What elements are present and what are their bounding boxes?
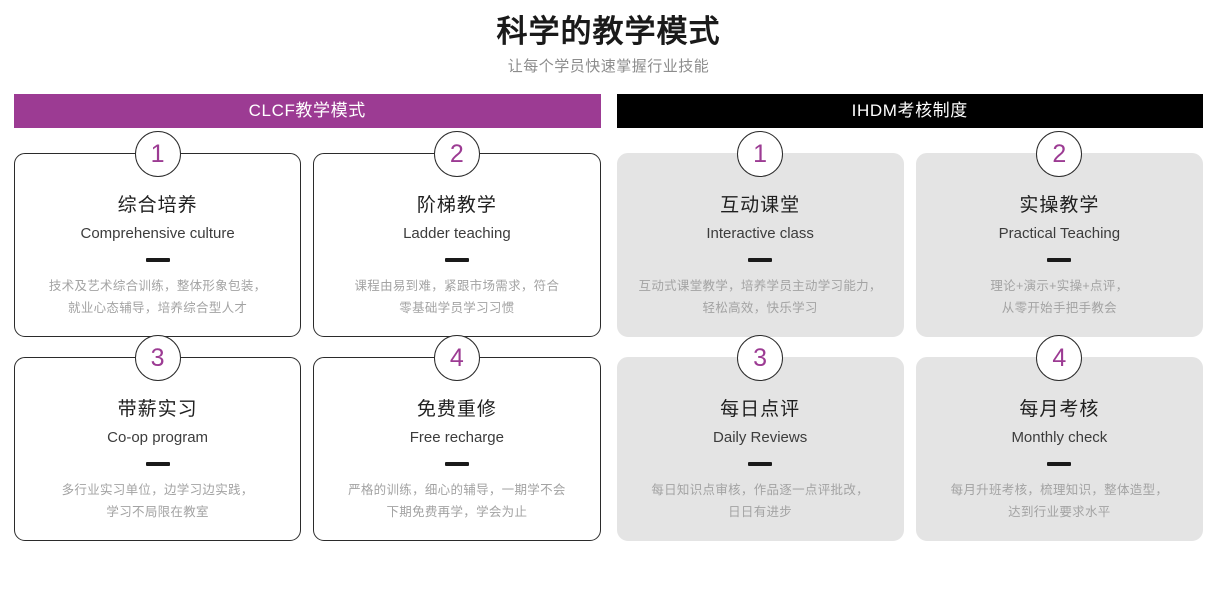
card-description-line: 多行业实习单位，边学习边实践， bbox=[31, 479, 284, 501]
card-description-line: 技术及艺术综合训练，整体形象包装， bbox=[31, 275, 284, 297]
card-divider-rule bbox=[445, 258, 469, 262]
page-title: 科学的教学模式 bbox=[0, 10, 1217, 54]
card-title: 互动课堂 bbox=[634, 192, 887, 220]
card-ihdm-1[interactable]: 1 互动课堂 Interactive class 互动式课堂教学，培养学员主动学… bbox=[617, 153, 904, 337]
card-subtitle: Free recharge bbox=[330, 425, 583, 450]
card-ihdm-2[interactable]: 2 实操教学 Practical Teaching 理论+演示+实操+点评， 从… bbox=[916, 153, 1203, 337]
column-header-ihdm: IHDM考核制度 bbox=[617, 94, 1204, 128]
card-divider-rule bbox=[748, 462, 772, 466]
card-divider-rule bbox=[146, 462, 170, 466]
card-divider-rule bbox=[748, 258, 772, 262]
card-description-line: 互动式课堂教学，培养学员主动学习能力， bbox=[634, 275, 887, 297]
card-title: 免费重修 bbox=[330, 396, 583, 424]
card-number-badge: 3 bbox=[135, 335, 181, 381]
card-description-line: 学习不局限在教室 bbox=[31, 501, 284, 523]
card-number-badge: 4 bbox=[434, 335, 480, 381]
card-description-line: 零基础学员学习习惯 bbox=[330, 297, 583, 319]
card-description-line: 日日有进步 bbox=[634, 501, 887, 523]
card-description: 每月升班考核，梳理知识，整体造型， 达到行业要求水平 bbox=[933, 479, 1186, 523]
column-header-clcf: CLCF教学模式 bbox=[14, 94, 601, 128]
page-subtitle: 让每个学员快速掌握行业技能 bbox=[0, 54, 1217, 80]
card-divider-rule bbox=[146, 258, 170, 262]
card-clcf-1[interactable]: 1 综合培养 Comprehensive culture 技术及艺术综合训练，整… bbox=[14, 153, 301, 337]
card-number-badge: 1 bbox=[135, 131, 181, 177]
card-grid-clcf: 1 综合培养 Comprehensive culture 技术及艺术综合训练，整… bbox=[14, 153, 601, 541]
card-title: 实操教学 bbox=[933, 192, 1186, 220]
card-description-line: 就业心态辅导，培养综合型人才 bbox=[31, 297, 284, 319]
card-subtitle: Comprehensive culture bbox=[31, 221, 284, 246]
card-description-line: 每日知识点审核，作品逐一点评批改， bbox=[634, 479, 887, 501]
card-description-line: 轻松高效，快乐学习 bbox=[634, 297, 887, 319]
card-divider-rule bbox=[1047, 462, 1071, 466]
card-description-line: 下期免费再学，学会为止 bbox=[330, 501, 583, 523]
card-description-line: 课程由易到难，紧跟市场需求，符合 bbox=[330, 275, 583, 297]
card-ihdm-3[interactable]: 3 每日点评 Daily Reviews 每日知识点审核，作品逐一点评批改， 日… bbox=[617, 357, 904, 541]
card-subtitle: Ladder teaching bbox=[330, 221, 583, 246]
card-title: 带薪实习 bbox=[31, 396, 284, 424]
card-number-badge: 2 bbox=[1036, 131, 1082, 177]
card-description: 每日知识点审核，作品逐一点评批改， 日日有进步 bbox=[634, 479, 887, 523]
columns-band: CLCF教学模式 1 综合培养 Comprehensive culture 技术… bbox=[0, 94, 1217, 541]
card-description: 理论+演示+实操+点评， 从零开始手把手教会 bbox=[933, 275, 1186, 319]
card-description: 多行业实习单位，边学习边实践， 学习不局限在教室 bbox=[31, 479, 284, 523]
card-number-badge: 2 bbox=[434, 131, 480, 177]
card-description-line: 从零开始手把手教会 bbox=[933, 297, 1186, 319]
card-subtitle: Daily Reviews bbox=[634, 425, 887, 450]
card-divider-rule bbox=[445, 462, 469, 466]
card-number-badge: 4 bbox=[1036, 335, 1082, 381]
card-title: 综合培养 bbox=[31, 192, 284, 220]
card-subtitle: Co-op program bbox=[31, 425, 284, 450]
card-description: 严格的训练，细心的辅导，一期学不会 下期免费再学，学会为止 bbox=[330, 479, 583, 523]
card-description: 互动式课堂教学，培养学员主动学习能力， 轻松高效，快乐学习 bbox=[634, 275, 887, 319]
card-clcf-2[interactable]: 2 阶梯教学 Ladder teaching 课程由易到难，紧跟市场需求，符合 … bbox=[313, 153, 600, 337]
card-description-line: 严格的训练，细心的辅导，一期学不会 bbox=[330, 479, 583, 501]
card-title: 阶梯教学 bbox=[330, 192, 583, 220]
column-clcf: CLCF教学模式 1 综合培养 Comprehensive culture 技术… bbox=[14, 94, 601, 541]
card-title: 每日点评 bbox=[634, 396, 887, 424]
column-ihdm: IHDM考核制度 1 互动课堂 Interactive class 互动式课堂教… bbox=[617, 94, 1204, 541]
card-description-line: 达到行业要求水平 bbox=[933, 501, 1186, 523]
card-title: 每月考核 bbox=[933, 396, 1186, 424]
card-ihdm-4[interactable]: 4 每月考核 Monthly check 每月升班考核，梳理知识，整体造型， 达… bbox=[916, 357, 1203, 541]
card-description-line: 理论+演示+实操+点评， bbox=[933, 275, 1186, 297]
card-description: 技术及艺术综合训练，整体形象包装， 就业心态辅导，培养综合型人才 bbox=[31, 275, 284, 319]
page-header: 科学的教学模式 让每个学员快速掌握行业技能 bbox=[0, 0, 1217, 80]
card-clcf-4[interactable]: 4 免费重修 Free recharge 严格的训练，细心的辅导，一期学不会 下… bbox=[313, 357, 600, 541]
card-divider-rule bbox=[1047, 258, 1071, 262]
card-number-badge: 1 bbox=[737, 131, 783, 177]
card-subtitle: Practical Teaching bbox=[933, 221, 1186, 246]
card-subtitle: Monthly check bbox=[933, 425, 1186, 450]
card-grid-ihdm: 1 互动课堂 Interactive class 互动式课堂教学，培养学员主动学… bbox=[617, 153, 1204, 541]
card-clcf-3[interactable]: 3 带薪实习 Co-op program 多行业实习单位，边学习边实践， 学习不… bbox=[14, 357, 301, 541]
card-number-badge: 3 bbox=[737, 335, 783, 381]
card-description: 课程由易到难，紧跟市场需求，符合 零基础学员学习习惯 bbox=[330, 275, 583, 319]
card-subtitle: Interactive class bbox=[634, 221, 887, 246]
card-description-line: 每月升班考核，梳理知识，整体造型， bbox=[933, 479, 1186, 501]
teaching-model-page: 科学的教学模式 让每个学员快速掌握行业技能 CLCF教学模式 1 综合培养 Co… bbox=[0, 0, 1217, 597]
